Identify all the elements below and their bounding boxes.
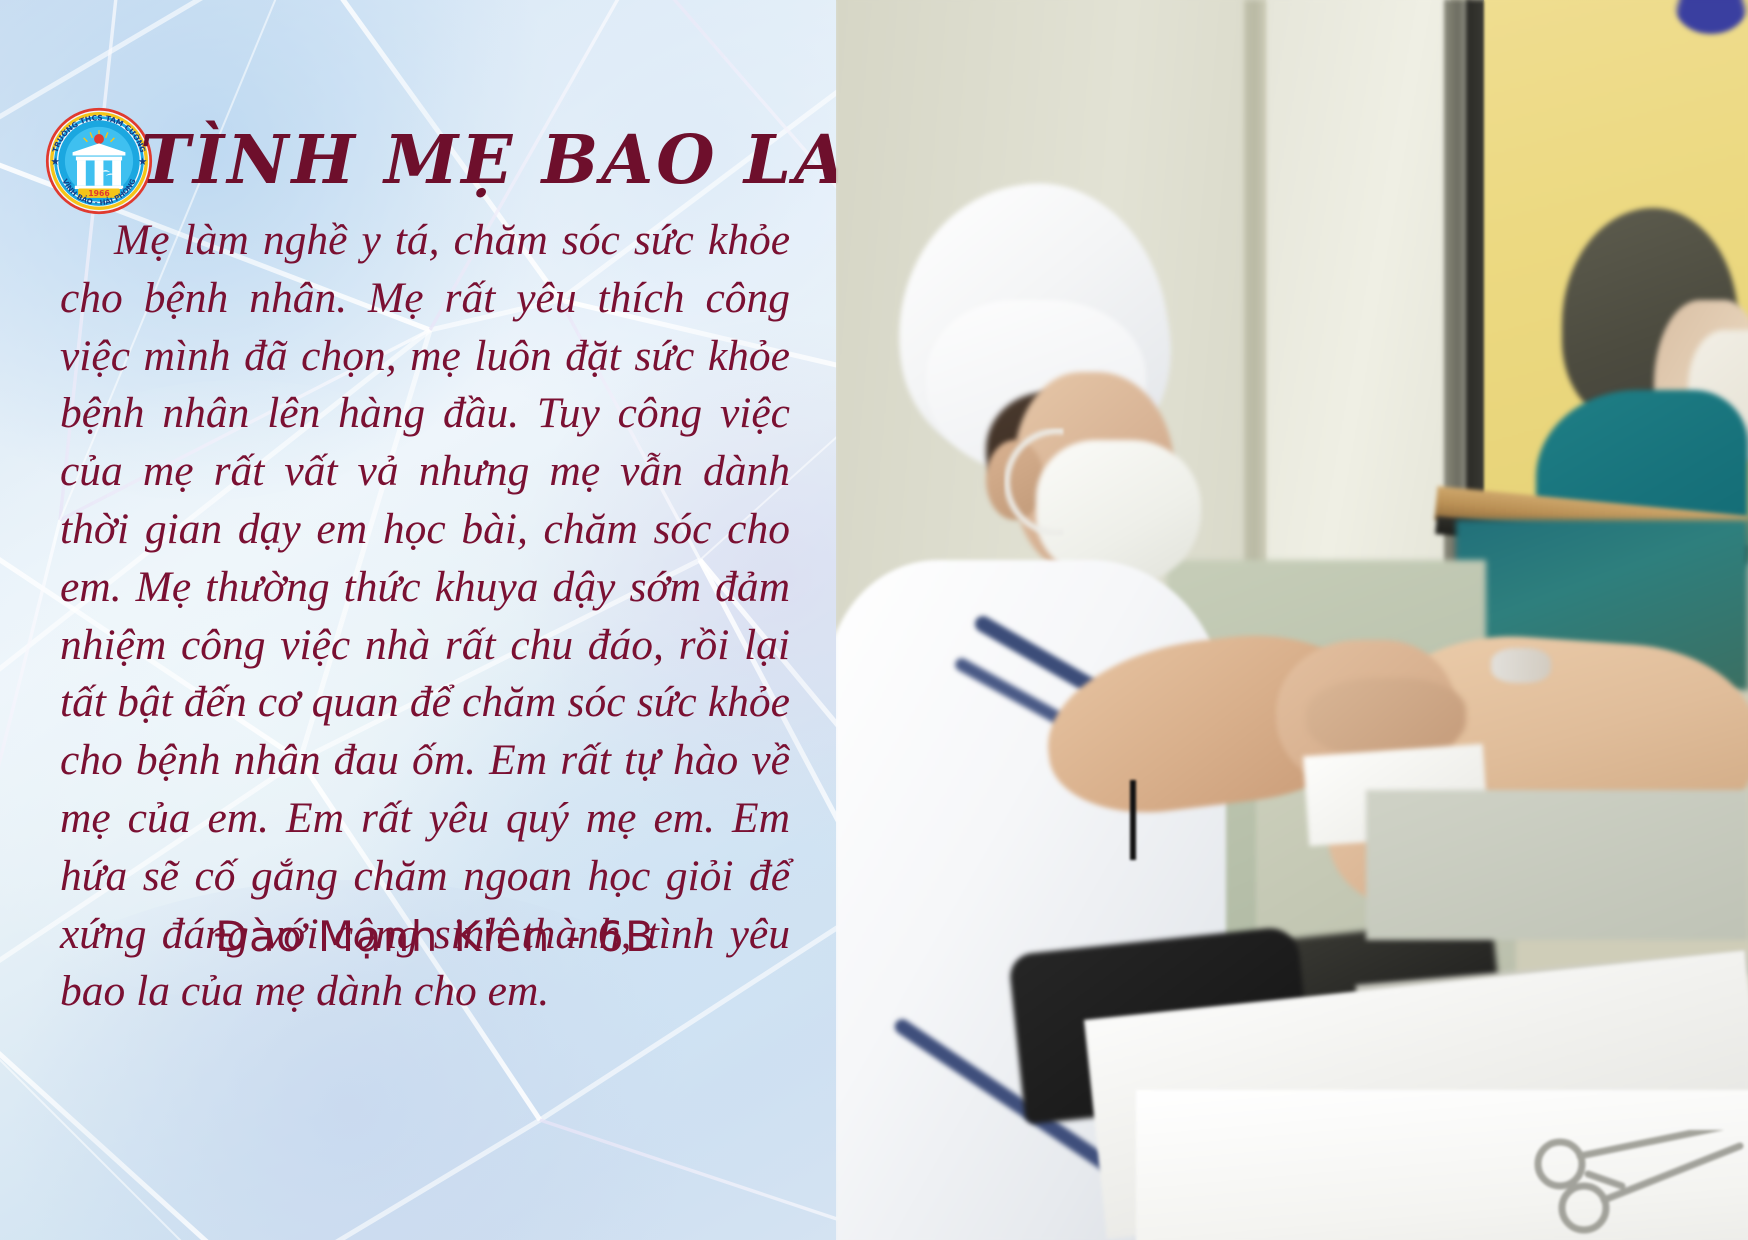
photo-panel: [836, 0, 1748, 1240]
text-panel: 1966 TRƯỜNG THCS TAM CƯỜNG VĨNH BẢO - HẢ…: [0, 0, 836, 1240]
title-row: 1966 TRƯỜNG THCS TAM CƯỜNG VĨNH BẢO - HẢ…: [0, 104, 836, 216]
svg-text:★: ★: [51, 156, 60, 166]
school-logo-icon: 1966 TRƯỜNG THCS TAM CƯỜNG VĨNH BẢO - HẢ…: [44, 106, 154, 216]
photo-tray: [1366, 790, 1748, 940]
slide-root: 1966 TRƯỜNG THCS TAM CƯỜNG VĨNH BẢO - HẢ…: [0, 0, 1748, 1240]
photo-dark-marker: [1130, 780, 1136, 860]
left-content: 1966 TRƯỜNG THCS TAM CƯỜNG VĨNH BẢO - HẢ…: [0, 0, 836, 1240]
author-signature: Đào Mạnh Kiên - 6B: [215, 912, 655, 961]
page-title: TÌNH MẸ BAO LA: [140, 104, 836, 216]
photo-syringe: [1491, 648, 1551, 683]
essay-body: Mẹ làm nghề y tá, chăm sóc sức khỏe cho …: [60, 212, 790, 1021]
photo-forceps-icon: [1526, 1130, 1746, 1240]
svg-text:1966: 1966: [88, 189, 109, 198]
photo-window-edge: [1466, 0, 1486, 560]
